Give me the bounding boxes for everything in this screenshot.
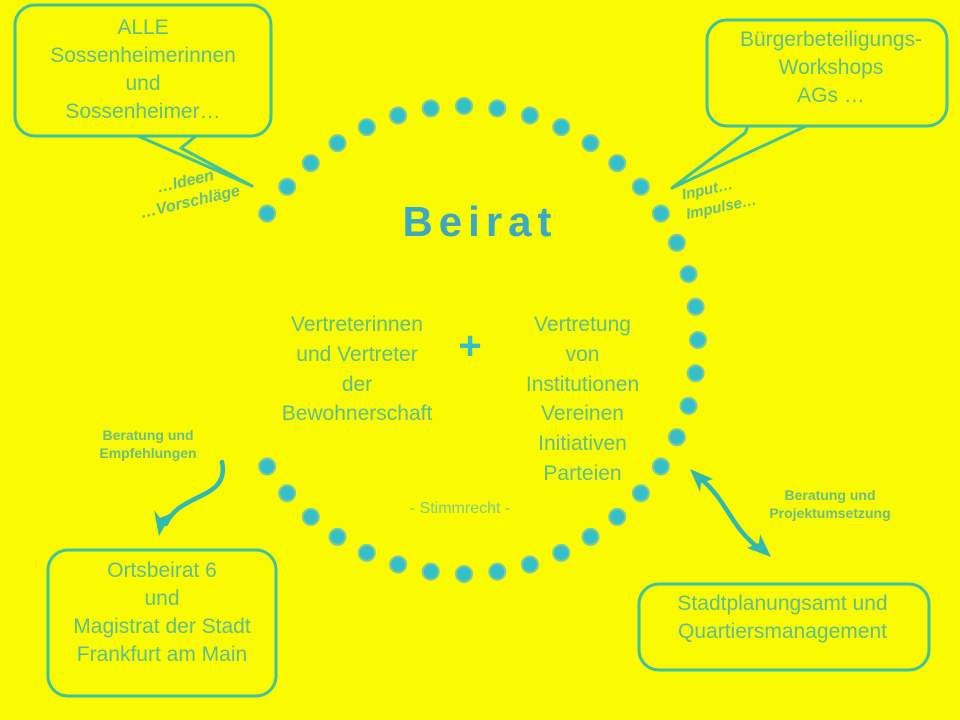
circle-dot: [688, 365, 704, 381]
center-column-left: Vertreterinnen und Vertreter der Bewohne…: [262, 310, 452, 429]
circle-dot: [583, 529, 599, 545]
circle-dot: [553, 545, 569, 561]
annotation-beratung-projektumsetzung: Beratung und Projektumsetzung: [742, 486, 918, 522]
circle-dot: [522, 557, 538, 573]
circle-dot: [423, 564, 439, 580]
circle-dot: [390, 107, 406, 123]
box-bottom-left-text: Ortsbeirat 6 und Magistrat der Stadt Fra…: [48, 557, 276, 669]
circle-dot: [553, 119, 569, 135]
circle-dot: [390, 557, 406, 573]
annotation-beratung-empfehlungen: Beratung und Empfehlungen: [68, 426, 228, 462]
circle-dot: [609, 155, 625, 171]
speech-bubble-top-left-text: ALLE Sossenheimerinnen und Sossenheimer…: [18, 14, 268, 126]
circle-dot: [489, 564, 505, 580]
circle-dot: [303, 155, 319, 171]
circle-dot: [279, 485, 295, 501]
circle-dot: [688, 299, 704, 315]
circle-dot: [423, 100, 439, 116]
diagram-canvas: Beirat Vertreterinnen und Vertreter der …: [0, 0, 960, 720]
circle-dot: [259, 459, 275, 475]
center-column-right: Vertretung von Institutionen Vereinen In…: [490, 310, 675, 489]
arrow-beratung-empfehlungen: [154, 462, 223, 536]
circle-dot: [359, 119, 375, 135]
circle-dot: [329, 135, 345, 151]
circle-dot: [456, 566, 472, 582]
stimmrecht-note: - Stimmrecht -: [330, 500, 590, 518]
circle-dot: [633, 179, 649, 195]
circle-dot: [489, 100, 505, 116]
box-bottom-right-text: Stadtplanungsamt und Quartiersmanagement: [640, 590, 925, 646]
circle-dot: [329, 529, 345, 545]
circle-dot: [456, 98, 472, 114]
circle-dot: [609, 509, 625, 525]
speech-bubble-top-right-text: Bürgerbeteiligungs- Workshops AGs …: [710, 26, 952, 110]
circle-dot: [690, 332, 706, 348]
circle-dot: [522, 107, 538, 123]
circle-dot: [303, 509, 319, 525]
circle-dot: [681, 266, 697, 282]
circle-dot: [681, 398, 697, 414]
circle-dot: [279, 179, 295, 195]
circle-dot: [583, 135, 599, 151]
circle-dot: [359, 545, 375, 561]
